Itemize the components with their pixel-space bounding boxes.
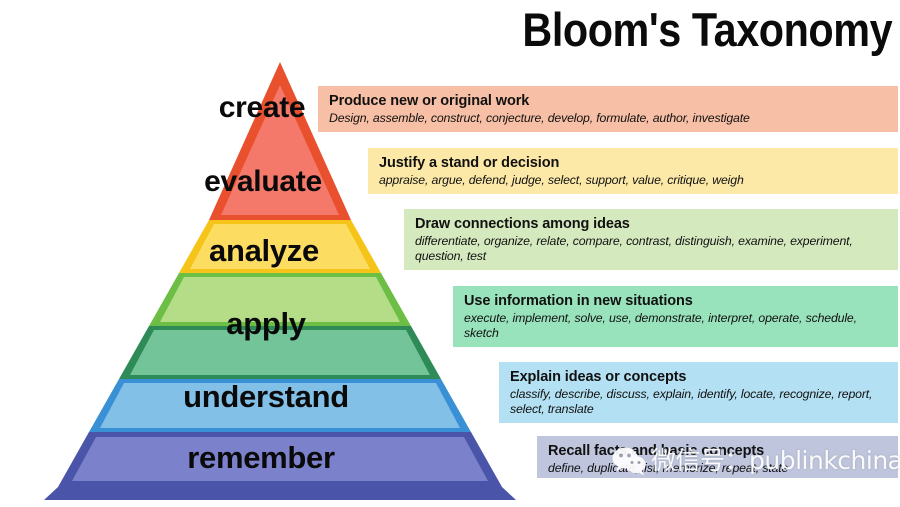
description-remember-verbs: define, duplicate, list, memorize, repea…	[548, 461, 889, 476]
description-apply-heading: Use information in new situations	[464, 292, 889, 310]
pyramid-base-shadow	[44, 487, 516, 500]
description-understand-heading: Explain ideas or concepts	[510, 368, 889, 386]
description-apply: Use information in new situations execut…	[453, 286, 898, 347]
description-remember: Recall facts and basic concepts define, …	[537, 436, 898, 478]
description-evaluate: Justify a stand or decision appraise, ar…	[368, 148, 898, 194]
description-create: Produce new or original work Design, ass…	[318, 86, 898, 132]
description-analyze-heading: Draw connections among ideas	[415, 215, 889, 233]
description-evaluate-heading: Justify a stand or decision	[379, 154, 889, 172]
pyramid-label-evaluate: evaluate	[204, 165, 322, 199]
description-understand: Explain ideas or concepts classify, desc…	[499, 362, 898, 423]
description-create-heading: Produce new or original work	[329, 92, 889, 110]
description-evaluate-verbs: appraise, argue, defend, judge, select, …	[379, 173, 889, 188]
description-analyze: Draw connections among ideas differentia…	[404, 209, 898, 270]
pyramid-label-apply: apply	[226, 306, 305, 342]
description-create-verbs: Design, assemble, construct, conjecture,…	[329, 111, 889, 126]
description-remember-heading: Recall facts and basic concepts	[548, 442, 889, 460]
page-title: Bloom's Taxonomy	[522, 2, 892, 58]
description-apply-verbs: execute, implement, solve, use, demonstr…	[464, 311, 864, 341]
description-understand-verbs: classify, describe, discuss, explain, id…	[510, 387, 885, 417]
pyramid-label-create: create	[219, 91, 306, 125]
description-analyze-verbs: differentiate, organize, relate, compare…	[415, 234, 867, 264]
pyramid-label-analyze: analyze	[209, 233, 319, 269]
pyramid-label-remember: remember	[187, 440, 335, 476]
pyramid-label-understand: understand	[183, 379, 349, 415]
blooms-taxonomy-figure: Bloom's Taxonomy	[0, 0, 900, 507]
